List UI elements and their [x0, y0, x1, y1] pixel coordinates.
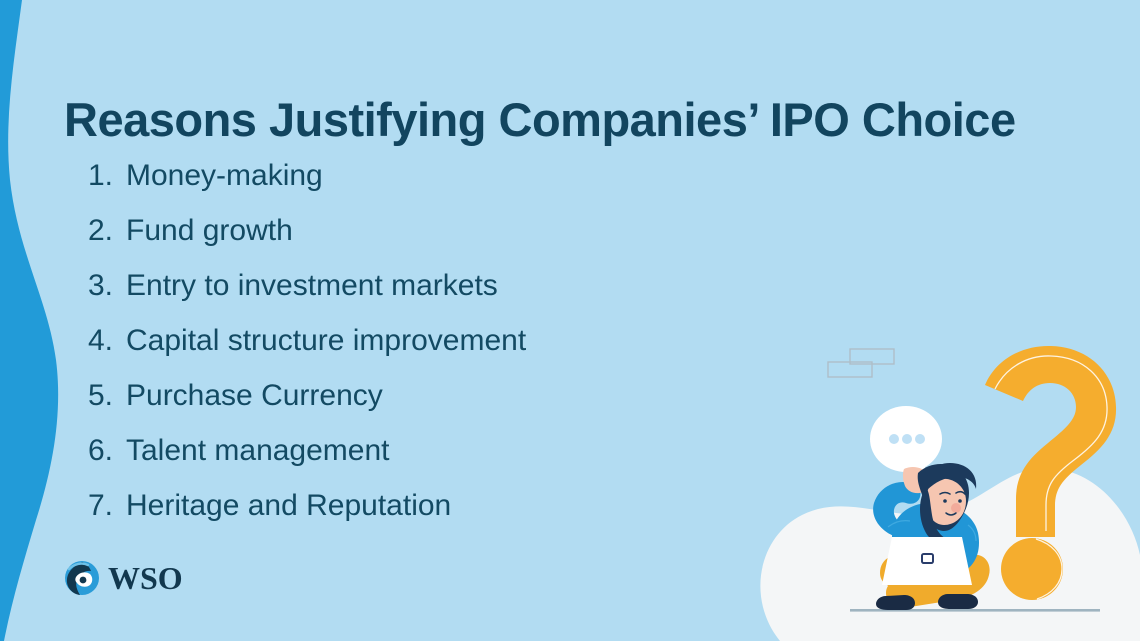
list-item: 3. Entry to investment markets: [88, 258, 788, 313]
page-title: Reasons Justifying Companies’ IPO Choice: [64, 93, 1104, 147]
logo-eye-dot: [80, 577, 87, 584]
list-item: 2. Fund growth: [88, 203, 788, 258]
list-item-label: Talent management: [126, 423, 390, 478]
list-item-label: Heritage and Reputation: [126, 478, 451, 533]
list-item-number: 2.: [88, 203, 126, 258]
list-item-label: Purchase Currency: [126, 368, 383, 423]
list-item-label: Money-making: [126, 148, 323, 203]
slide-content: Reasons Justifying Companies’ IPO Choice…: [0, 0, 1140, 641]
list-item-label: Fund growth: [126, 203, 293, 258]
list-item-number: 4.: [88, 313, 126, 368]
brand-wordmark: WSO: [108, 560, 183, 596]
list-item: 1. Money-making: [88, 148, 788, 203]
list-item: 6. Talent management: [88, 423, 788, 478]
list-item-number: 6.: [88, 423, 126, 478]
list-item-number: 1.: [88, 148, 126, 203]
list-item: 5. Purchase Currency: [88, 368, 788, 423]
slide-canvas: Reasons Justifying Companies’ IPO Choice…: [0, 0, 1140, 641]
wso-globe-icon: [64, 560, 100, 596]
list-item-number: 3.: [88, 258, 126, 313]
list-item-number: 5.: [88, 368, 126, 423]
list-item-label: Entry to investment markets: [126, 258, 498, 313]
list-item-label: Capital structure improvement: [126, 313, 526, 368]
list-item: 4. Capital structure improvement: [88, 313, 788, 368]
reasons-list: 1. Money-making 2. Fund growth 3. Entry …: [88, 148, 788, 533]
brand-logo: WSO: [64, 560, 183, 596]
list-item-number: 7.: [88, 478, 126, 533]
list-item: 7. Heritage and Reputation: [88, 478, 788, 533]
